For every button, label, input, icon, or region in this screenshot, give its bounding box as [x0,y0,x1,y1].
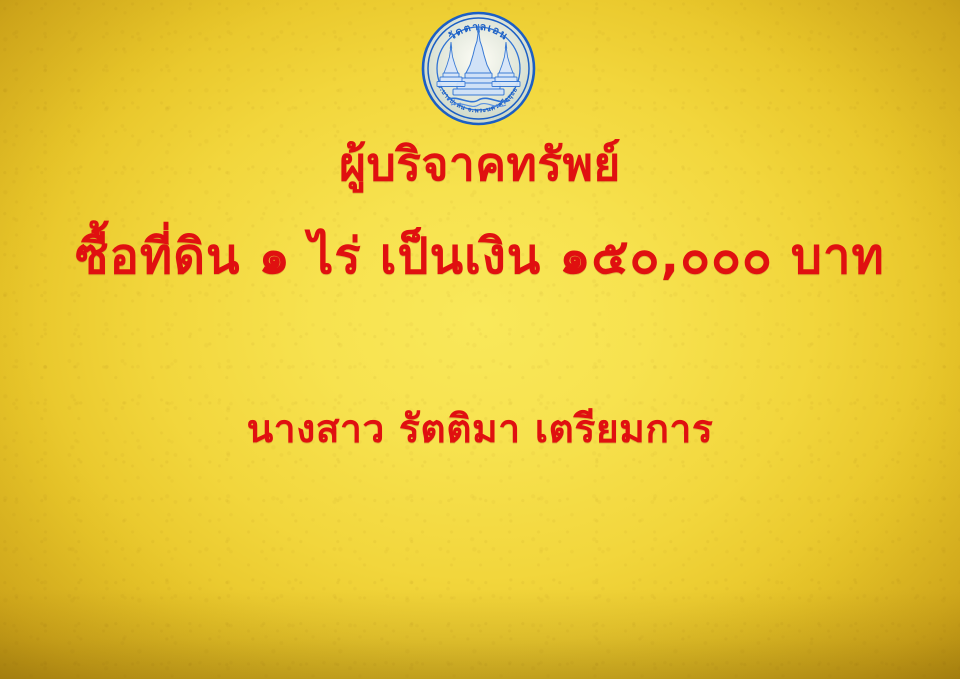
donation-poster: วัดตาลเอน อ.บางปะหัน จ.พระนครศรีอยุธยา [0,0,960,679]
bottom-shadow [0,589,960,679]
temple-seal-logo: วัดตาลเอน อ.บางปะหัน จ.พระนครศรีอยุธยา [421,11,536,126]
donor-name: นางสาว รัตติมา เตรียมการ [0,404,960,456]
donation-amount-line: ซื้อที่ดิน ๑ ไร่ เป็นเงิน ๑๕๐,๐๐๐ บาท [0,226,960,288]
page-title: ผู้บริจาคทรัพย์ [0,136,960,192]
